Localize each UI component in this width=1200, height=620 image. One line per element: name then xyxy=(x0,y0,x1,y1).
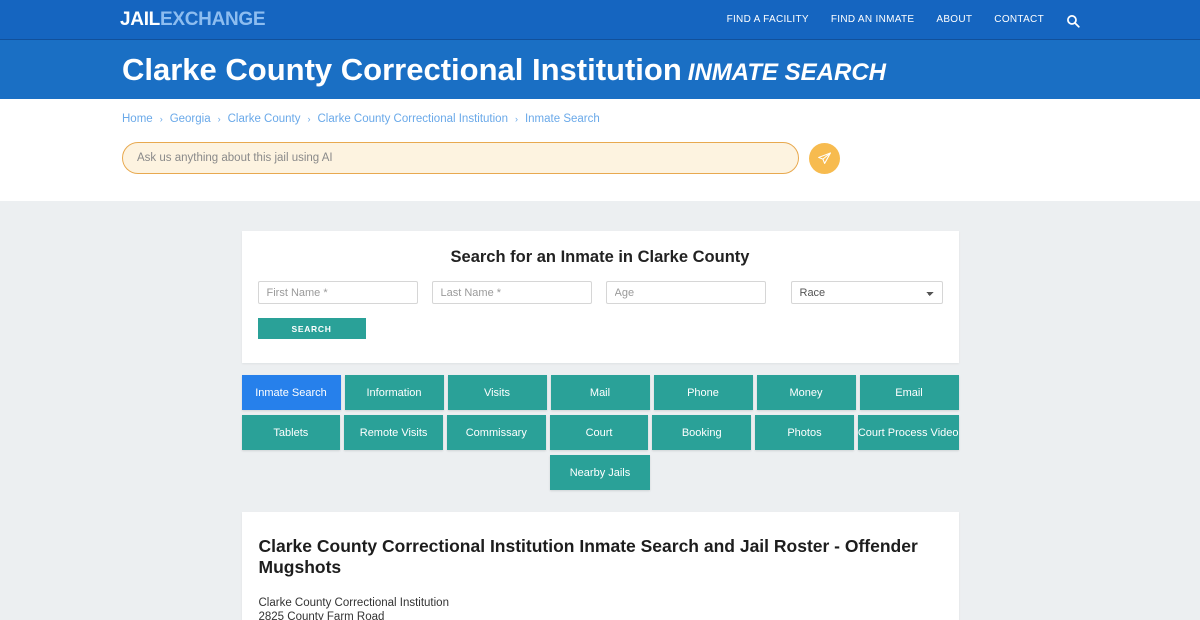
breadcrumb-item-home[interactable]: Home xyxy=(122,113,153,125)
main-navigation: FIND A FACILITY FIND AN INMATE ABOUT CON… xyxy=(727,13,1080,27)
tab-remote-visits[interactable]: Remote Visits xyxy=(344,415,443,450)
race-select[interactable]: Race xyxy=(791,281,943,304)
ai-search-row xyxy=(120,142,1080,174)
first-name-input[interactable] xyxy=(258,281,418,304)
breadcrumb-and-ai-section: Home › Georgia › Clarke County › Clarke … xyxy=(0,99,1200,201)
page-title-banner: Clarke County Correctional InstitutionIN… xyxy=(0,40,1200,99)
tab-tablets[interactable]: Tablets xyxy=(242,415,341,450)
search-icon[interactable] xyxy=(1066,14,1080,28)
tab-mail[interactable]: Mail xyxy=(551,375,650,410)
breadcrumb-item-georgia[interactable]: Georgia xyxy=(170,113,211,125)
inmate-search-card: Search for an Inmate in Clarke County Ra… xyxy=(242,231,959,363)
breadcrumb-item-clarke-county[interactable]: Clarke County xyxy=(228,113,301,125)
tab-money[interactable]: Money xyxy=(757,375,856,410)
facility-tab-grid: Inmate Search Information Visits Mail Ph… xyxy=(242,375,959,490)
nav-about[interactable]: ABOUT xyxy=(936,14,972,25)
tab-phone[interactable]: Phone xyxy=(654,375,753,410)
site-logo[interactable]: JAILEXCHANGE xyxy=(120,10,265,29)
tab-inmate-search[interactable]: Inmate Search xyxy=(242,375,341,410)
tab-email[interactable]: Email xyxy=(860,375,959,410)
breadcrumb-separator: › xyxy=(218,114,221,124)
tab-court[interactable]: Court xyxy=(550,415,649,450)
breadcrumb-separator: › xyxy=(515,114,518,124)
last-name-input[interactable] xyxy=(432,281,592,304)
page-title: Clarke County Correctional InstitutionIN… xyxy=(122,54,1080,85)
nav-find-a-facility[interactable]: FIND A FACILITY xyxy=(727,14,809,25)
tab-row-1: Inmate Search Information Visits Mail Ph… xyxy=(242,375,959,410)
breadcrumb-separator: › xyxy=(307,114,310,124)
tab-row-3: Nearby Jails xyxy=(242,455,959,490)
site-header: JAILEXCHANGE FIND A FACILITY FIND AN INM… xyxy=(0,0,1200,40)
search-button[interactable]: SEARCH xyxy=(258,318,366,339)
tab-booking[interactable]: Booking xyxy=(652,415,751,450)
breadcrumb-item-current: Inmate Search xyxy=(525,113,600,125)
nav-find-an-inmate[interactable]: FIND AN INMATE xyxy=(831,14,914,25)
facility-info-card: Clarke County Correctional Institution I… xyxy=(242,512,959,620)
inmate-search-form: Race xyxy=(258,281,943,304)
age-input[interactable] xyxy=(606,281,766,304)
facility-street: 2825 County Farm Road xyxy=(259,610,942,620)
breadcrumb-item-facility[interactable]: Clarke County Correctional Institution xyxy=(317,113,507,125)
tab-visits[interactable]: Visits xyxy=(448,375,547,410)
logo-text-secondary: EXCHANGE xyxy=(160,9,265,30)
tab-commissary[interactable]: Commissary xyxy=(447,415,546,450)
page-title-main: Clarke County Correctional Institution xyxy=(122,52,682,87)
page-title-subtitle: INMATE SEARCH xyxy=(688,59,886,86)
main-content: Search for an Inmate in Clarke County Ra… xyxy=(0,201,1200,620)
inmate-search-title: Search for an Inmate in Clarke County xyxy=(258,248,943,267)
tab-nearby-jails[interactable]: Nearby Jails xyxy=(550,455,650,490)
logo-text-primary: JAIL xyxy=(120,9,160,30)
tab-row-2: Tablets Remote Visits Commissary Court B… xyxy=(242,415,959,450)
ai-search-input[interactable] xyxy=(122,142,799,174)
breadcrumb-separator: › xyxy=(160,114,163,124)
tab-court-process-video[interactable]: Court Process Video xyxy=(858,415,959,450)
breadcrumb: Home › Georgia › Clarke County › Clarke … xyxy=(120,113,1080,125)
facility-info-heading: Clarke County Correctional Institution I… xyxy=(259,536,942,578)
tab-information[interactable]: Information xyxy=(345,375,444,410)
tab-photos[interactable]: Photos xyxy=(755,415,854,450)
ai-send-button[interactable] xyxy=(809,143,840,174)
facility-name: Clarke County Correctional Institution xyxy=(259,596,942,610)
nav-contact[interactable]: CONTACT xyxy=(994,14,1044,25)
